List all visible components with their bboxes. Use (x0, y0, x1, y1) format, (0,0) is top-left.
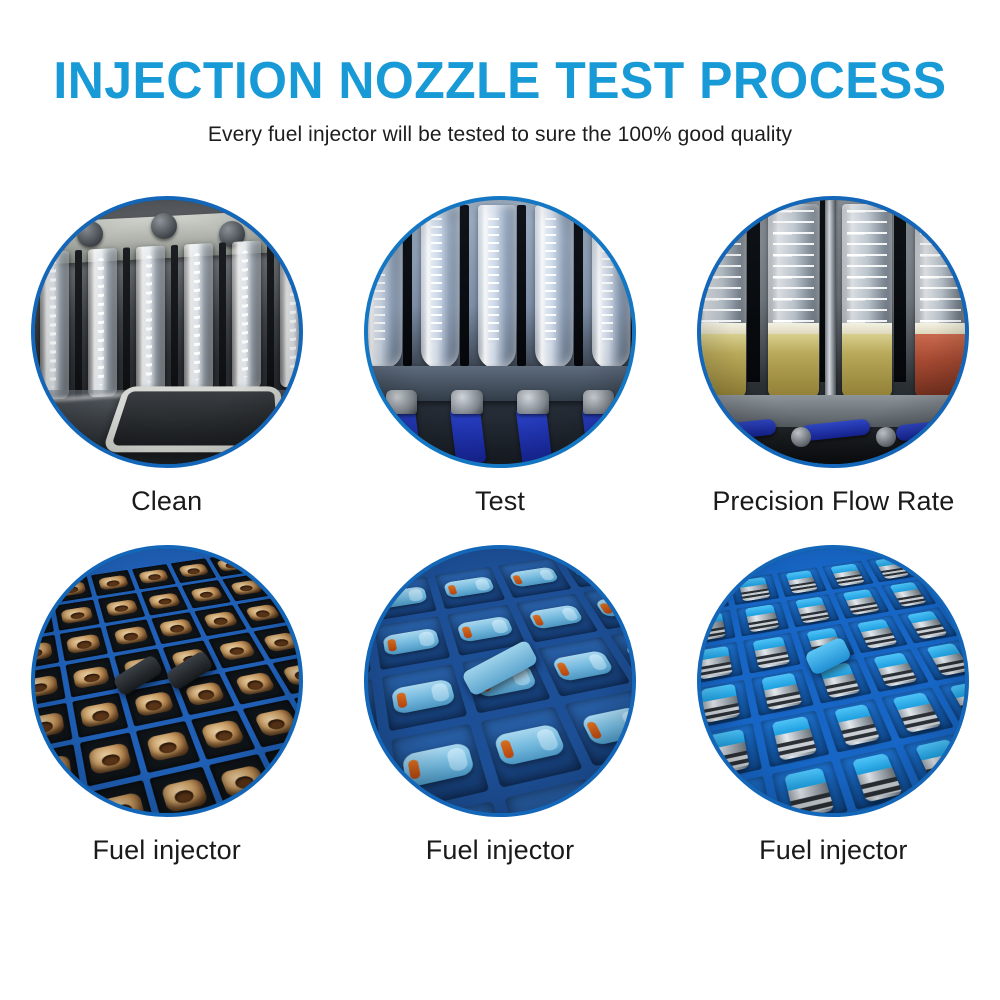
step-6-circle-photo (697, 545, 969, 817)
step-5-image-wrap (364, 545, 636, 817)
test-bench-illustration (368, 200, 632, 464)
process-step-grid: Clean (0, 196, 1000, 866)
step-5-caption: Fuel injector (426, 835, 574, 866)
step-6-image-wrap (697, 545, 969, 817)
step-4-image-wrap (31, 545, 303, 817)
process-step-precision-flow-rate: Precision Flow Rate (667, 196, 1000, 517)
step-3-image-wrap (697, 196, 969, 468)
clean-machine-illustration (35, 200, 299, 464)
step-6-caption: Fuel injector (759, 835, 907, 866)
process-step-test: Test (333, 196, 666, 517)
process-step-fuel-injector-tan: Fuel injector (0, 545, 333, 866)
step-3-caption: Precision Flow Rate (712, 486, 954, 517)
header: INJECTION NOZZLE TEST PROCESS Every fuel… (0, 0, 1000, 147)
step-1-circle-photo (31, 196, 303, 468)
step-4-caption: Fuel injector (92, 835, 240, 866)
process-step-fuel-injector-blue: Fuel injector (333, 545, 666, 866)
blue-injector-tray-illustration (368, 549, 632, 813)
process-step-clean: Clean (0, 196, 333, 517)
step-2-image-wrap (364, 196, 636, 468)
page-subtitle: Every fuel injector will be tested to su… (0, 123, 1000, 147)
flow-rate-cylinders-illustration (701, 200, 965, 464)
step-2-caption: Test (475, 486, 525, 517)
step-4-circle-photo (31, 545, 303, 817)
chrome-injector-tray-illustration (701, 549, 965, 813)
promo-infographic-page: INJECTION NOZZLE TEST PROCESS Every fuel… (0, 0, 1000, 1000)
process-step-fuel-injector-chrome: Fuel injector (667, 545, 1000, 866)
step-1-image-wrap (31, 196, 303, 468)
tan-injector-tray-illustration (35, 549, 299, 813)
step-1-caption: Clean (131, 486, 202, 517)
step-2-circle-photo (364, 196, 636, 468)
step-5-circle-photo (364, 545, 636, 817)
step-3-circle-photo (697, 196, 969, 468)
page-title: INJECTION NOZZLE TEST PROCESS (20, 54, 980, 109)
